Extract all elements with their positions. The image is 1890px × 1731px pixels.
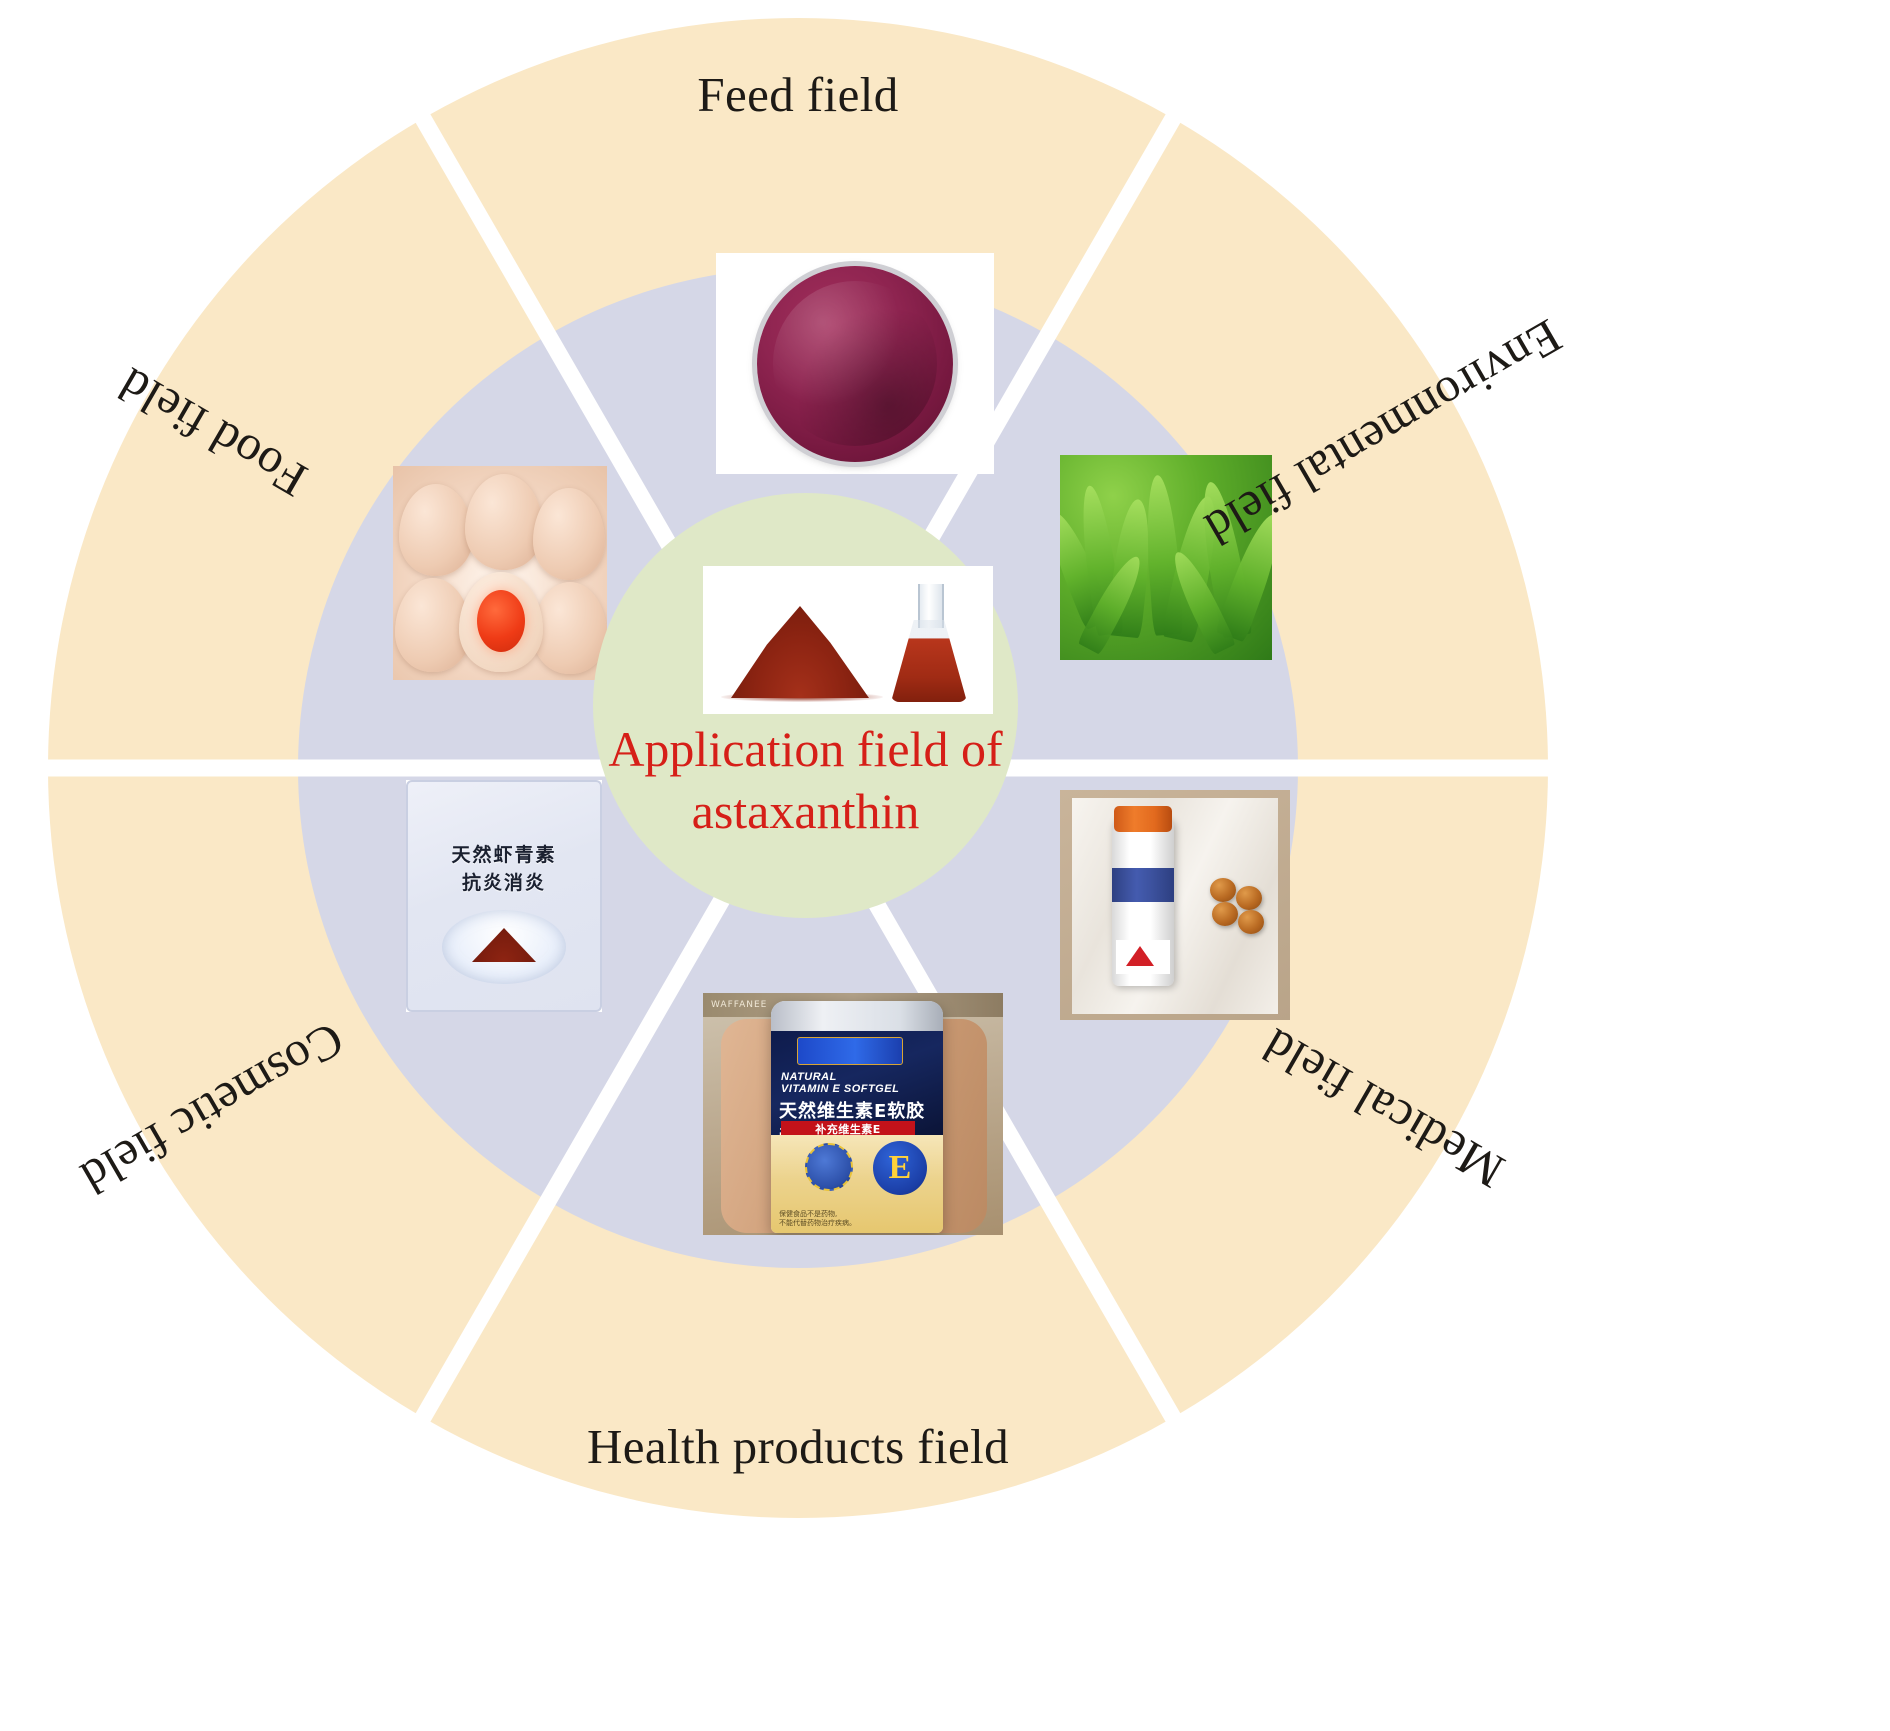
sector-label-health: Health products field [518, 1418, 1078, 1475]
cosmetic-text-line2: 抗炎消炎 [408, 868, 600, 895]
softgel-capsule [1238, 910, 1264, 934]
diagram-canvas: 天然虾青素 抗炎消炎 WAFFANEE [0, 0, 1890, 1731]
brand-badge [797, 1037, 903, 1065]
center-image-astaxanthin [703, 566, 993, 714]
bottle-english-line1: NATURAL [781, 1071, 937, 1083]
flask-body [891, 620, 967, 702]
bottle-english-text: NATURAL VITAMIN E SOFTGEL [781, 1071, 937, 1095]
fine-print-line2: 不能代替药物治疗疾病。 [779, 1219, 935, 1228]
bottle-fine-print: 保健食品不是药物, 不能代替药物治疗疾病。 [779, 1210, 935, 1228]
bottle-navy-label: NATURAL VITAMIN E SOFTGEL 天然维生素E软胶囊 补充维生… [771, 1031, 943, 1135]
egg [533, 582, 607, 674]
red-yolk [477, 590, 525, 652]
sector-image-health-products: WAFFANEE NATURAL VITAMIN E SOFTGEL 天然维生素… [703, 993, 1003, 1235]
vitamin-e-badge: E [873, 1141, 927, 1195]
fine-print-line1: 保健食品不是药物, [779, 1210, 935, 1219]
softgel-capsule [1210, 878, 1236, 902]
petri-dish [757, 266, 953, 462]
feed-powder-photo [716, 253, 994, 474]
erlenmeyer-flask [891, 584, 967, 702]
egg [533, 488, 605, 580]
vitamin-e-bottle: NATURAL VITAMIN E SOFTGEL 天然维生素E软胶囊 补充维生… [771, 1001, 943, 1233]
page-title: Application field of astaxanthin [593, 718, 1018, 842]
astaxanthin-powder-pile [731, 606, 869, 698]
vitamin-bottle-photo: WAFFANEE NATURAL VITAMIN E SOFTGEL 天然维生素… [703, 993, 1003, 1235]
bottle-label-band [1112, 868, 1174, 902]
page-title-line1: Application field of [593, 718, 1018, 780]
cosmetic-text-line1: 天然虾青素 [408, 840, 600, 867]
softgel-capsule [1212, 902, 1238, 926]
page-title-line2: astaxanthin [593, 780, 1018, 842]
certification-seal [805, 1143, 853, 1191]
softgel-capsule [1236, 886, 1262, 910]
bottle-lid [771, 1001, 943, 1031]
bottle-gold-label: E 保健食品不是药物, 不能代替药物治疗疾病。 [771, 1135, 943, 1233]
astaxanthin-powder-flask-photo [703, 566, 993, 714]
egg [465, 474, 543, 570]
application-field-wheel: 天然虾青素 抗炎消炎 WAFFANEE [48, 18, 1548, 1518]
sector-label-feed: Feed field [518, 66, 1078, 123]
bottle-cap [1114, 806, 1172, 832]
sector-image-feed [716, 253, 994, 474]
bottle-english-line2: VITAMIN E SOFTGEL [781, 1083, 937, 1095]
